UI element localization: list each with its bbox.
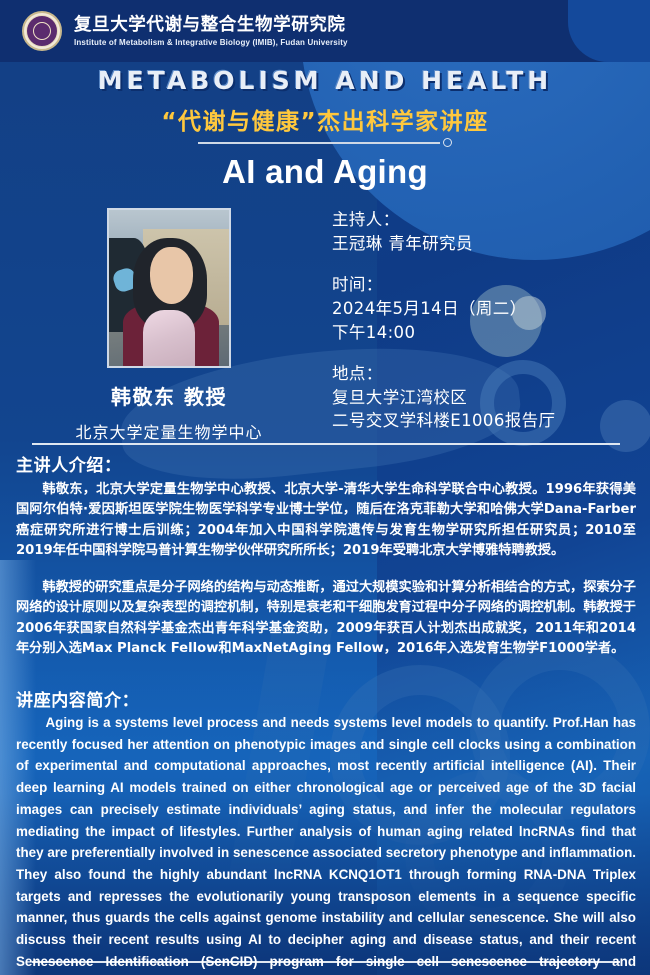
fudan-university-crest-icon bbox=[22, 11, 62, 51]
speaker-affiliation: 北京大学定量生物学中心 bbox=[14, 419, 324, 443]
place-line-one: 复旦大学江湾校区 bbox=[332, 386, 640, 410]
speaker-name: 韩敬东 教授 bbox=[14, 381, 324, 410]
time-clock: 下午14:00 bbox=[332, 321, 640, 345]
lecture-topic-title: AI and Aging bbox=[0, 153, 650, 191]
divider-line bbox=[198, 142, 440, 144]
abstract-paragraph: Aging is a systems level process and nee… bbox=[16, 712, 636, 975]
poster-header: 复旦大学代谢与整合生物学研究院 Institute of Metabolism … bbox=[0, 0, 650, 62]
bio-paragraph-one: 韩敬东，北京大学定量生物学中心教授、北京大学-清华大学生命科学联合中心教授。19… bbox=[16, 480, 636, 562]
time-date: 2024年5月14日（周二） bbox=[332, 297, 640, 321]
event-info-block: 主持人： 王冠琳 青年研究员 时间： 2024年5月14日（周二） 下午14:0… bbox=[332, 208, 640, 433]
speaker-block: 韩敬东 教授 北京大学定量生物学中心 bbox=[14, 208, 324, 443]
section-divider-top bbox=[32, 443, 620, 445]
bio-paragraph-two: 韩教授的研究重点是分子网络的结构与动态推断，通过大规模实验和计算分析相结合的方式… bbox=[16, 578, 636, 660]
organization-name-cn: 复旦大学代谢与整合生物学研究院 bbox=[74, 15, 348, 35]
place-group: 地点： 复旦大学江湾校区 二号交叉学科楼E1006报告厅 bbox=[332, 362, 640, 434]
lecture-poster: 复旦大学代谢与整合生物学研究院 Institute of Metabolism … bbox=[0, 0, 650, 975]
time-group: 时间： 2024年5月14日（周二） 下午14:00 bbox=[332, 273, 640, 345]
title-divider bbox=[198, 138, 452, 148]
organization-names: 复旦大学代谢与整合生物学研究院 Institute of Metabolism … bbox=[74, 15, 348, 47]
abstract-heading: 讲座内容简介： bbox=[16, 686, 139, 711]
series-title-cn: “代谢与健康”杰出科学家讲座 bbox=[0, 102, 650, 136]
organization-name-en: Institute of Metabolism & Integrative Bi… bbox=[74, 38, 348, 47]
series-title-en: METABOLISM AND HEALTH bbox=[0, 66, 650, 95]
host-label: 主持人： bbox=[332, 208, 640, 232]
host-group: 主持人： 王冠琳 青年研究员 bbox=[332, 208, 640, 256]
speaker-photo bbox=[107, 208, 231, 368]
divider-dot-icon bbox=[443, 138, 452, 147]
time-label: 时间： bbox=[332, 273, 640, 297]
bio-heading: 主讲人介绍： bbox=[16, 451, 122, 476]
place-line-two: 二号交叉学科楼E1006报告厅 bbox=[332, 409, 640, 433]
host-value: 王冠琳 青年研究员 bbox=[332, 232, 640, 256]
place-label: 地点： bbox=[332, 362, 640, 386]
